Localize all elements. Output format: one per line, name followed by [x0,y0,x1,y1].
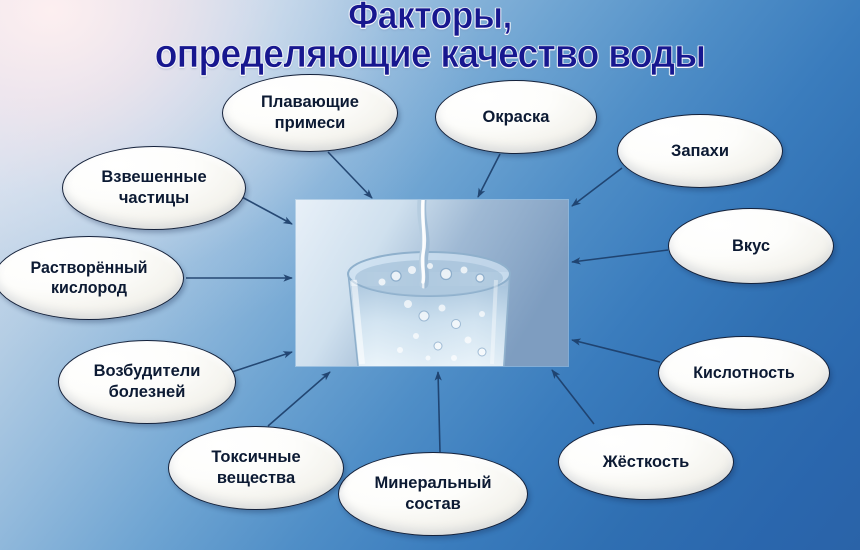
connector-pathogens [232,352,292,372]
factor-label: Токсичныевещества [179,447,332,488]
connector-suspended-particles [240,196,292,224]
factor-dissolved-oxygen[interactable]: Растворённыйкислород [0,236,184,320]
factor-label: Кислотность [669,363,818,383]
factor-label: Запахи [628,141,772,162]
connector-hardness [552,370,594,424]
glass-of-water-photo [296,200,568,366]
slide-canvas: Факторы, определяющие качество воды [0,0,860,550]
factor-label: Возбудителиболезней [69,361,224,402]
factor-pathogens[interactable]: Возбудителиболезней [58,340,236,424]
factor-label: Окраска [446,107,586,128]
connector-coloration [478,154,500,197]
factor-acidity[interactable]: Кислотность [658,336,830,410]
connector-acidity [572,340,660,362]
factor-label: Вкус [679,236,823,257]
connector-floating-impurities [328,152,372,198]
factor-label: Жёсткость [569,452,722,473]
factor-suspended-particles[interactable]: Взвешенныечастицы [62,146,246,230]
factor-mineral-composition[interactable]: Минеральныйсостав [338,452,528,536]
factor-label: Взвешенныечастицы [73,167,234,208]
connector-toxic-substances [268,372,330,426]
factor-taste[interactable]: Вкус [668,208,834,284]
factor-hardness[interactable]: Жёсткость [558,424,734,500]
factor-label: Минеральныйсостав [350,473,517,514]
factor-label: Растворённыйкислород [6,258,173,298]
factor-coloration[interactable]: Окраска [435,80,597,154]
factor-floating-impurities[interactable]: Плавающиепримеси [222,74,398,152]
connector-odours [572,168,622,206]
factor-odours[interactable]: Запахи [617,114,783,188]
connector-taste [572,250,668,262]
factor-label: Плавающиепримеси [233,92,386,133]
connector-mineral-composition [438,372,440,452]
factor-toxic-substances[interactable]: Токсичныевещества [168,426,344,510]
